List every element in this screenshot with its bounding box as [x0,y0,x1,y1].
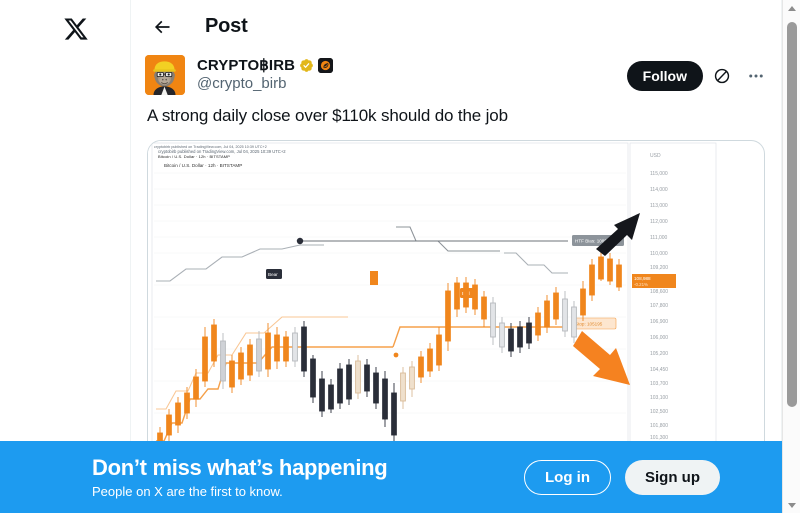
back-button[interactable] [145,10,179,44]
page-root: Post [0,0,800,513]
banner-title: Don’t miss what’s happening [92,455,387,480]
post-header: Post [131,0,781,53]
author-actions: Follow [627,61,771,91]
verified-badge-gold-icon [299,58,314,73]
svg-text:115,000: 115,000 [650,171,668,177]
arrow-left-icon [152,17,172,37]
svg-text:113,000: 113,000 [650,203,668,209]
grok-circle-slash-icon[interactable] [707,61,737,91]
svg-text:-0.21%: -0.21% [634,282,648,287]
post-text: A strong daily close over $110k should d… [131,95,781,136]
author-handle[interactable]: @crypto_birb [197,75,333,92]
chart-symbol-title: Bitcoin / U.S. Dollar · 12h · BITSTAMP [158,154,267,159]
svg-text:103,700: 103,700 [650,381,668,387]
svg-text:104,450: 104,450 [650,367,668,373]
svg-text:108,600: 108,600 [650,289,668,295]
more-horizontal-icon[interactable] [741,61,771,91]
svg-text:109,200: 109,200 [650,265,668,271]
svg-text:Stop: 105195: Stop: 105195 [575,322,603,327]
affiliate-badge-icon[interactable] [318,58,333,73]
svg-text:106,900: 106,900 [650,319,668,325]
post-media-chart[interactable]: cryptobirb published on TradingView.com,… [147,140,765,460]
login-button[interactable]: Log in [524,460,611,495]
scrollbar-thumb[interactable] [787,22,797,407]
svg-text:111,000: 111,000 [650,235,668,241]
svg-text:107,800: 107,800 [650,303,668,309]
svg-text:Bear: Bear [268,272,278,277]
banner-text: Don’t miss what’s happening People on X … [92,455,387,499]
svg-text:105,200: 105,200 [650,351,668,357]
banner-subtitle: People on X are the first to know. [92,484,387,499]
svg-text:102,500: 102,500 [650,409,668,415]
svg-text:USD: USD [650,153,661,159]
chart-attribution-overlay: cryptobirb published on TradingView.com,… [154,145,267,159]
vertical-scrollbar[interactable] [782,0,800,513]
display-name-line: CRYPTO฿IRB [197,56,333,74]
banner-actions: Log in Sign up [524,460,720,495]
svg-text:112,000: 112,000 [650,219,668,225]
svg-text:108,988: 108,988 [634,276,651,281]
follow-button[interactable]: Follow [627,61,703,91]
author-display-name[interactable]: CRYPTO฿IRB [197,56,295,74]
scroll-up-arrow-icon[interactable] [783,0,800,16]
svg-text:Bitcoin / U.S. Dollar · 12h ·: Bitcoin / U.S. Dollar · 12h · BITSTAMP [164,163,242,168]
svg-text:103,100: 103,100 [650,395,668,401]
author-names: CRYPTO฿IRB @crypto_birb [197,55,333,92]
svg-text:110,000: 110,000 [650,251,668,257]
page-title: Post [205,15,248,38]
scroll-down-arrow-icon[interactable] [783,497,800,513]
signup-banner: Don’t miss what’s happening People on X … [0,441,782,513]
left-nav-rail [0,0,131,513]
signup-button[interactable]: Sign up [625,460,720,495]
svg-text:106,000: 106,000 [650,335,668,341]
author-row: CRYPTO฿IRB @crypto_birb [131,53,781,95]
chart-attribution: cryptobirb published on TradingView.com,… [154,145,267,149]
svg-text:114,000: 114,000 [650,187,668,193]
avatar[interactable] [145,55,185,95]
main-column: Post [131,0,782,513]
x-logo-icon[interactable] [59,12,93,46]
svg-text:101,800: 101,800 [650,423,668,429]
tradingview-chart: cryptobirb published on TradingView.com,… [148,141,718,460]
